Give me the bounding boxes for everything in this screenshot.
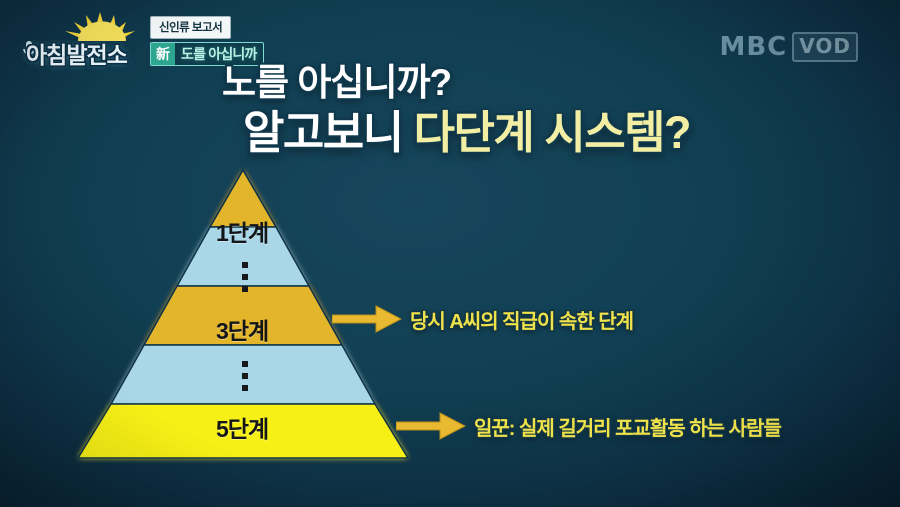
headline-line-2-white: 알고보니 (243, 107, 403, 158)
segment-badge-top: 신인류 보고서 (150, 16, 231, 39)
arrow-right-icon (332, 304, 402, 334)
callout-tier-5: 일꾼: 실제 길거리 포교활동 하는 사람들 (396, 411, 781, 441)
channel-watermark: MBC VOD (719, 32, 858, 62)
callout-tier-3-text: 당시 A씨의 직급이 속한 단계 (410, 305, 633, 334)
segment-badge-korean: 도를 아십니까 (175, 43, 263, 65)
watermark-network-label: MBC (719, 32, 787, 62)
program-logo: 아침발전소 (24, 14, 164, 66)
video-frame: 아침발전소 신인류 보고서 新 도를 아십니까 MBC VOD 노를 아십니까?… (0, 0, 900, 507)
pyramid-tier-2-ellipsis (242, 262, 249, 298)
pyramid-tier-3-label: 3단계 (216, 312, 268, 346)
segment-badge-group: 신인류 보고서 新 도를 아십니까 (150, 16, 264, 66)
pyramid-tier-4-ellipsis (242, 361, 249, 397)
segment-badge-kanji: 新 (151, 43, 175, 65)
headline-line-2: 알고보니 다단계 시스템? (243, 96, 690, 161)
segment-badge-title: 新 도를 아십니까 (150, 42, 264, 66)
callout-tier-5-text: 일꾼: 실제 길거리 포교활동 하는 사람들 (474, 412, 781, 441)
watermark-service-label: VOD (792, 32, 858, 62)
pyramid-tier-5-label: 5단계 (216, 410, 268, 444)
arrow-right-icon (396, 411, 466, 441)
pyramid-tier-1-label: 1단계 (216, 214, 268, 248)
program-logo-text: 아침발전소 (26, 36, 127, 70)
headline-line-2-accent: 다단계 시스템? (414, 107, 690, 158)
callout-tier-3: 당시 A씨의 직급이 속한 단계 (332, 304, 633, 334)
